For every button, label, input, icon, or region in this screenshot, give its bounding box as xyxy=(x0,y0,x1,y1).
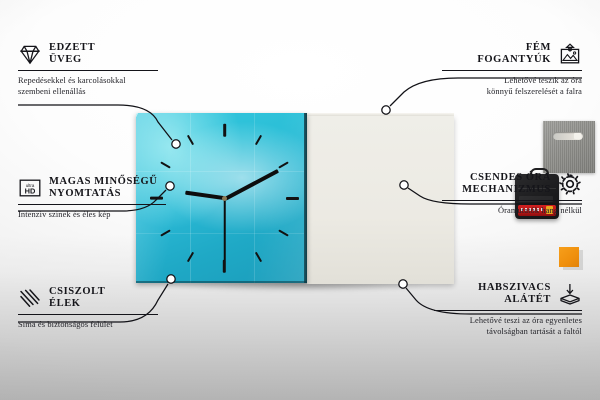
divider xyxy=(442,200,582,201)
feature-edzett-uveg: EDZETT ÜVEG Repedésekkel és karcolásokka… xyxy=(18,42,158,97)
infographic-canvas: EDZETT ÜVEG Repedésekkel és karcolásokka… xyxy=(0,0,600,400)
feature-title-row: CSISZOLT ÉLEK xyxy=(18,286,158,310)
feature-csendes-ora-mechanizmus: CSENDES ÓRA MECHANIZMUS Óramutatók hang … xyxy=(442,172,582,216)
glass-bottom-edge xyxy=(136,281,307,283)
feature-csiszolt-elek: CSISZOLT ÉLEK Sima és biztonságos felüle… xyxy=(18,286,158,330)
picture-hanger-icon xyxy=(558,42,582,66)
hour-tick xyxy=(286,197,299,200)
divider xyxy=(442,70,582,71)
divider xyxy=(18,70,158,71)
hour-tick xyxy=(223,124,226,137)
gear-icon xyxy=(558,172,582,196)
clock-back-panel xyxy=(307,116,454,284)
clock-hub xyxy=(222,196,227,201)
feature-fem-fogantyuk: FÉM FOGANTYÚK Lehetővé teszik az óra kön… xyxy=(442,42,582,97)
hanger-keyhole-slot xyxy=(553,132,583,140)
feature-subtitle: Lehetővé teszi az óra egyenletes távolsá… xyxy=(434,315,582,337)
feature-title-row: FÉM FOGANTYÚK xyxy=(442,42,582,66)
feature-title: MAGAS MINŐSÉGŰ NYOMTATÁS xyxy=(49,176,157,200)
feature-subtitle: Intenzív színek és éles kép xyxy=(18,209,166,220)
polished-edges-icon xyxy=(18,286,42,310)
divider xyxy=(18,204,166,205)
feature-habszivacs-alatet: HABSZIVACS ALÁTÉT Lehetővé teszi az óra … xyxy=(434,282,582,337)
feature-magas-minosegu-nyomtatas: ultra HD MAGAS MINŐSÉGŰ NYOMTATÁS Intenz… xyxy=(18,176,166,220)
second-hand xyxy=(224,199,226,261)
metal-hanger-plate xyxy=(543,121,595,173)
feature-subtitle: Sima és biztonságos felület xyxy=(18,319,158,330)
svg-text:HD: HD xyxy=(25,187,36,196)
orange-foam-pad xyxy=(559,247,579,267)
foam-pad-icon xyxy=(558,282,582,306)
feature-title-row: HABSZIVACS ALÁTÉT xyxy=(434,282,582,306)
hanger-hole xyxy=(574,133,581,139)
product-image xyxy=(136,113,454,285)
divider xyxy=(18,314,158,315)
feature-title: HABSZIVACS ALÁTÉT xyxy=(434,282,551,306)
hour-tick xyxy=(223,260,226,273)
feature-title: CSISZOLT ÉLEK xyxy=(49,286,105,310)
glass-right-edge xyxy=(304,113,307,283)
divider xyxy=(434,310,582,311)
feature-title: EDZETT ÜVEG xyxy=(49,42,95,66)
ultra-hd-icon: ultra HD xyxy=(18,176,42,200)
feature-subtitle: Lehetővé teszik az óra könnyű felszerelé… xyxy=(442,75,582,97)
feature-subtitle: Óramutatók hang nélkül xyxy=(442,205,582,216)
feature-title: CSENDES ÓRA MECHANIZMUS xyxy=(442,172,551,196)
feature-subtitle: Repedésekkel és karcolásokkal szembeni e… xyxy=(18,75,158,97)
diamond-icon xyxy=(18,42,42,66)
feature-title-row: EDZETT ÜVEG xyxy=(18,42,158,66)
feature-title-row: ultra HD MAGAS MINŐSÉGŰ NYOMTATÁS xyxy=(18,176,166,200)
feature-title-row: CSENDES ÓRA MECHANIZMUS xyxy=(442,172,582,196)
feature-title: FÉM FOGANTYÚK xyxy=(442,42,551,66)
